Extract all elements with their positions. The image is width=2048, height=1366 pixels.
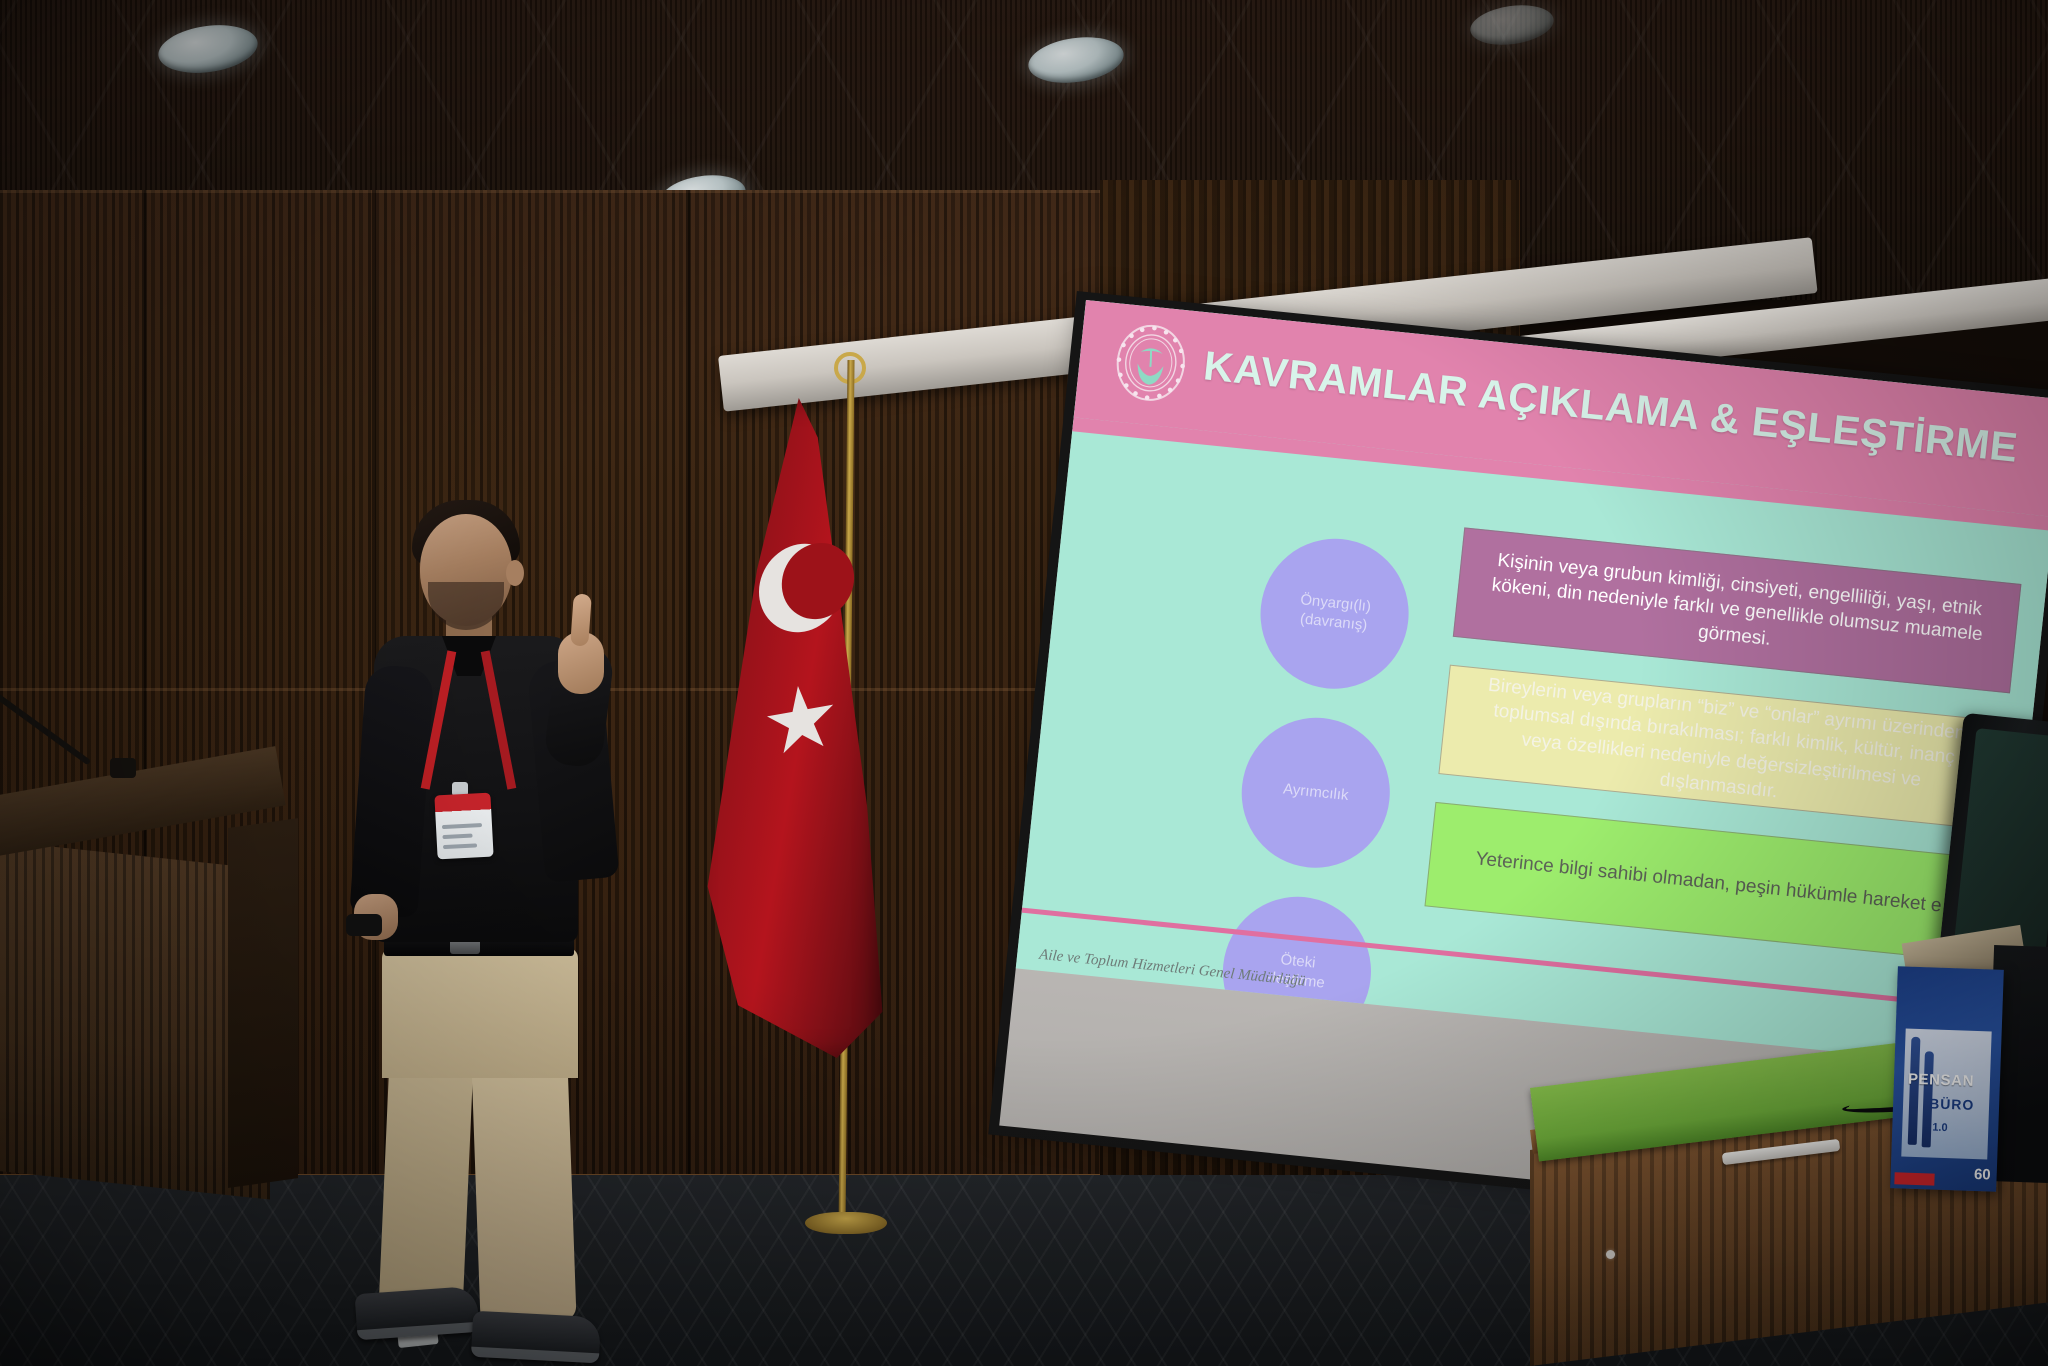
lectern-side-panel — [228, 818, 298, 1188]
badge-text-line — [442, 823, 482, 829]
wall-seam — [0, 190, 1180, 193]
presentation-clicker[interactable] — [346, 914, 382, 936]
concept-bubble: Ayrımcılık — [1234, 711, 1397, 875]
pen-box-product: BÜRO — [1929, 1095, 2000, 1113]
wall-joint — [686, 190, 690, 1200]
pen-box-tip-size: 1.0 — [1932, 1122, 1948, 1135]
definition-box: Bireylerin veya grupların “biz” ve “onla… — [1438, 665, 2007, 831]
presenter-leg-right — [471, 1058, 576, 1323]
presenter-shoe-left — [355, 1286, 480, 1340]
presentation-photo-scene: KAVRAMLAR AÇIKLAMA & EŞLEŞTİRME Önyargı(… — [0, 0, 2048, 1366]
bubble-line-1: Ayrımcılık — [1282, 780, 1349, 805]
presenter — [300, 490, 640, 1290]
presentation-slide: KAVRAMLAR AÇIKLAMA & EŞLEŞTİRME Önyargı(… — [1016, 300, 2048, 1068]
presenter-ear — [506, 560, 524, 586]
presenter-leg-left — [379, 1058, 474, 1311]
presenter-index-finger — [570, 593, 592, 646]
concept-bubble: Önyargı(lı) (davranış) — [1253, 532, 1416, 696]
badge-text-line — [442, 834, 472, 840]
pen-box-brand: PENSAN — [1908, 1071, 2005, 1091]
definition-box: Yeterince bilgi sahibi olmadan, peşin hü… — [1424, 802, 1992, 963]
pen-box: PENSAN BÜRO 1.0 60 — [1890, 966, 2004, 1192]
microphone-base — [110, 758, 136, 778]
bubble-line-1: Öteki — [1280, 951, 1317, 971]
definition-box-column: Kişinin veya grubun kimliği, cinsiyeti, … — [1422, 527, 2022, 990]
id-badge — [434, 793, 493, 860]
definition-text: Yeterince bilgi sahibi olmadan, peşin hü… — [1474, 846, 1943, 919]
badge-text-line — [443, 843, 477, 849]
pen-box-red-strip — [1894, 1172, 1934, 1185]
definition-text: Kişinin veya grubun kimliği, cinsiyeti, … — [1481, 547, 1992, 675]
definition-box: Kişinin veya grubun kimliği, cinsiyeti, … — [1453, 527, 2022, 693]
presenter-beard — [428, 582, 504, 630]
turkish-ministry-emblem-icon — [1110, 319, 1192, 406]
pen-box-quantity: 60 — [1974, 1166, 1991, 1184]
desk-drawer-knob[interactable] — [1606, 1250, 1615, 1259]
presenter-hips — [382, 948, 578, 1078]
definition-text: Bireylerin veya grupların “biz” ve “onla… — [1466, 671, 1980, 824]
flag-stand-base — [805, 1212, 887, 1234]
presenter-shoe-right — [471, 1311, 601, 1364]
